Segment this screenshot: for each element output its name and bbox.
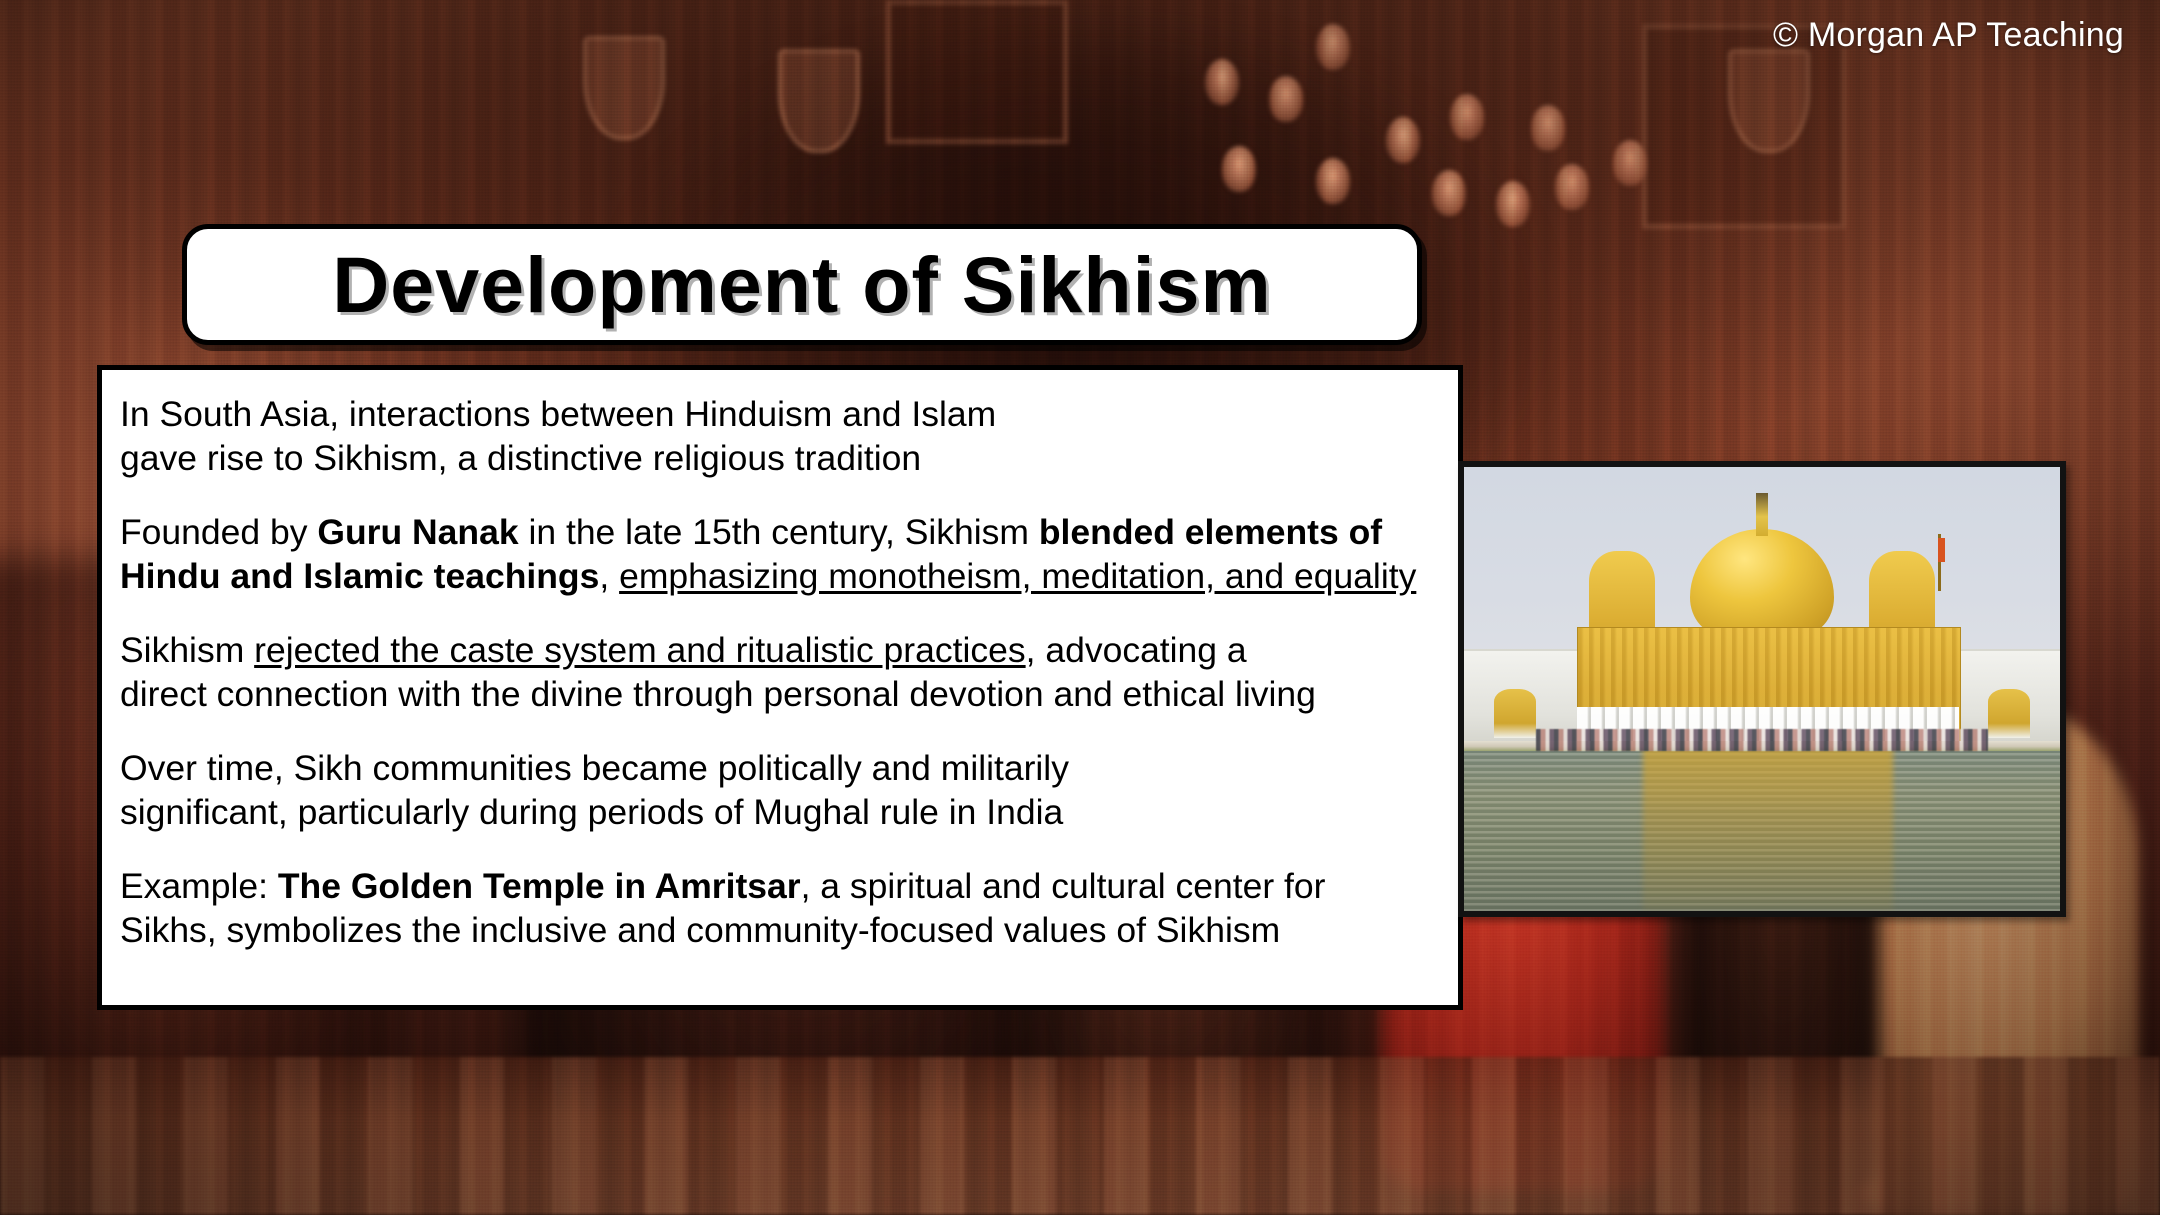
paragraph-founding: Founded by Guru Nanak in the late 15th c… bbox=[120, 510, 1444, 598]
copyright-watermark: © Morgan AP Teaching bbox=[1773, 16, 2124, 55]
text-run: , bbox=[599, 556, 619, 596]
paragraph-caste-rejection: Sikhism rejected the caste system and ri… bbox=[120, 628, 1444, 716]
text-run-bold: The Golden Temple in Amritsar bbox=[278, 866, 801, 906]
photo-pilgrim-crowd bbox=[1536, 729, 1989, 751]
slide-canvas: © Morgan AP Teaching Development of Sikh… bbox=[0, 0, 2160, 1215]
text-run: Sikhism bbox=[120, 630, 254, 670]
paragraph-intro: In South Asia, interactions between Hind… bbox=[120, 392, 1444, 480]
photo-temple-reflection bbox=[1643, 747, 1893, 911]
title-plate: Development of Sikhism bbox=[182, 224, 1422, 345]
paragraph-example: Example: The Golden Temple in Amritsar, … bbox=[120, 864, 1444, 952]
photo-side-kiosk bbox=[1494, 689, 1536, 738]
text-run: in the late 15th century, Sikhism bbox=[519, 512, 1039, 552]
text-run-bold: Guru Nanak bbox=[317, 512, 518, 552]
text-run: Example: bbox=[120, 866, 278, 906]
text-run: Founded by bbox=[120, 512, 317, 552]
page-title: Development of Sikhism bbox=[332, 245, 1272, 324]
content-text-box: In South Asia, interactions between Hind… bbox=[97, 365, 1463, 1010]
photo-nishan-sahib-flag bbox=[1938, 534, 1941, 592]
photo-side-kiosk bbox=[1988, 689, 2030, 738]
text-run-underline: emphasizing monotheism, meditation, and … bbox=[619, 556, 1416, 596]
paragraph-political-military: Over time, Sikh communities became polit… bbox=[120, 746, 1444, 834]
golden-temple-photo bbox=[1458, 461, 2066, 917]
text-run-underline: rejected the caste system and ritualisti… bbox=[254, 630, 1025, 670]
